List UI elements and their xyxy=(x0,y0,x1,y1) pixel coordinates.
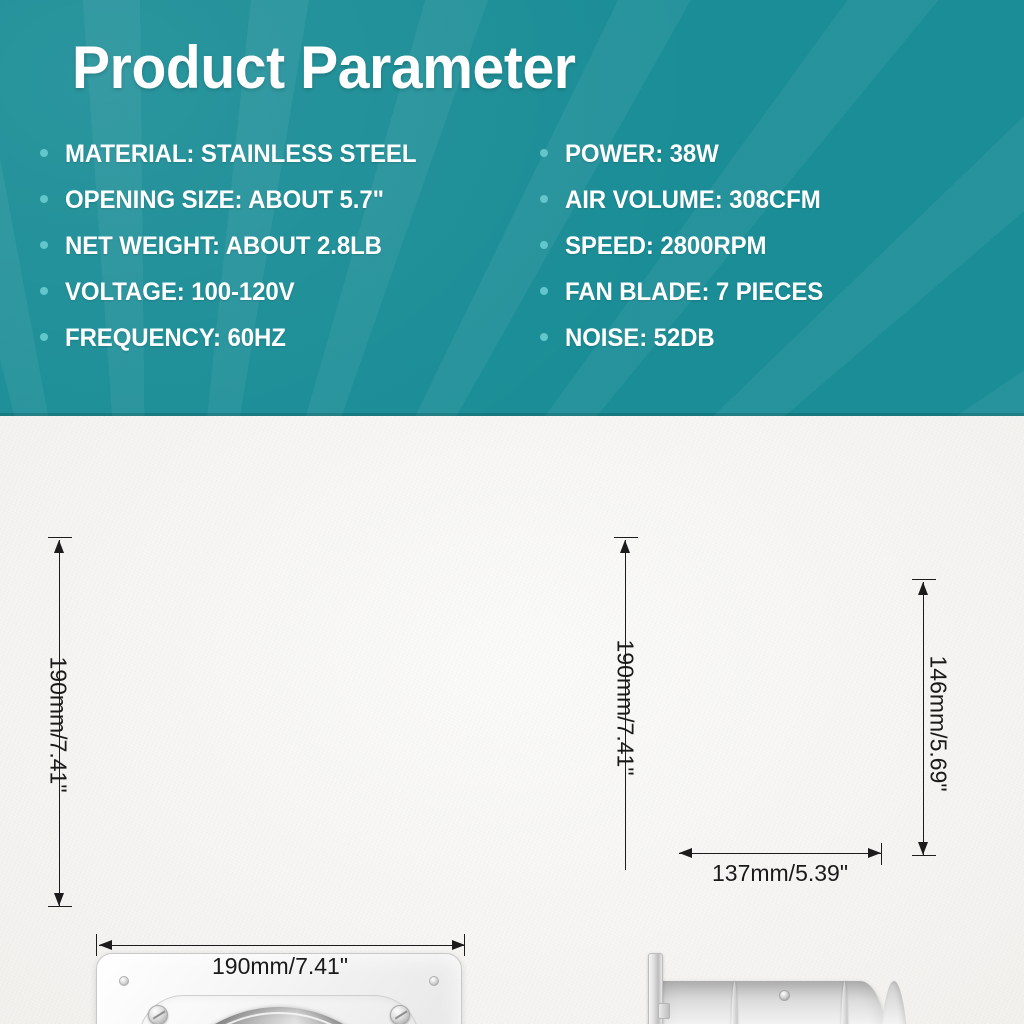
duct-body xyxy=(662,981,886,1024)
dim-tick-bottom xyxy=(48,906,72,907)
dim-tick-top xyxy=(614,537,638,538)
flange-tab xyxy=(658,1003,670,1019)
spec-column-right: POWER: 38W AIR VOLUME: 308CFM SPEED: 280… xyxy=(0,140,540,370)
dim-arrow-up xyxy=(620,540,630,553)
product-diagram-area: 190mm/7.41" 190mm/7.41" 190mm/7.41" xyxy=(0,416,1024,1024)
dim-arrow-left xyxy=(99,940,112,950)
spec-label: FAN BLADE: 7 PIECES xyxy=(565,278,823,307)
spec-label: AIR VOLUME: 308CFM xyxy=(565,186,821,215)
spec-label: NOISE: 52DB xyxy=(565,324,715,353)
dim-label-side-depth: 137mm/5.39" xyxy=(664,860,896,887)
spec-panel: Product Parameter MATERIAL: STAINLESS ST… xyxy=(0,0,1024,416)
dim-label-front-height: 190mm/7.41" xyxy=(45,645,72,805)
bullet-dot-icon xyxy=(540,195,548,203)
duct-end-cap xyxy=(877,981,911,1024)
dim-tick-top xyxy=(912,579,936,580)
dim-tick-bottom xyxy=(912,855,936,856)
grille-screw-icon xyxy=(390,1005,410,1024)
dim-arrow-left xyxy=(679,848,692,858)
spec-label: POWER: 38W xyxy=(565,140,719,169)
bullet-dot-icon xyxy=(540,333,548,341)
paper-texture xyxy=(0,416,1024,1024)
dim-arrow-up xyxy=(918,582,928,595)
page-title: Product Parameter xyxy=(72,36,576,99)
dim-arrow-down xyxy=(918,842,928,855)
duct-rivet-icon xyxy=(779,990,790,1001)
bullet-dot-icon xyxy=(540,149,548,157)
fan-side-view xyxy=(648,953,900,1024)
dim-label-front-width: 190mm/7.41" xyxy=(96,953,464,980)
dim-arrow-right xyxy=(868,848,881,858)
dim-line-side-depth xyxy=(679,853,881,854)
dim-arrow-down xyxy=(54,893,64,906)
bullet-dot-icon xyxy=(540,287,548,295)
spec-label: SPEED: 2800RPM xyxy=(565,232,766,261)
dim-label-side-height: 190mm/7.41" xyxy=(612,628,639,788)
grille-screw-icon xyxy=(148,1005,168,1024)
dim-arrow-up xyxy=(54,540,64,553)
dim-line-front-width xyxy=(99,945,465,946)
dim-tick-top xyxy=(48,537,72,538)
dim-tick-right xyxy=(464,934,465,956)
dim-label-duct-diameter: 146mm/5.69" xyxy=(925,644,952,804)
bullet-dot-icon xyxy=(540,241,548,249)
spec-columns: MATERIAL: STAINLESS STEEL OPENING SIZE: … xyxy=(0,140,1024,370)
product-parameter-page: Product Parameter MATERIAL: STAINLESS ST… xyxy=(0,0,1024,1024)
